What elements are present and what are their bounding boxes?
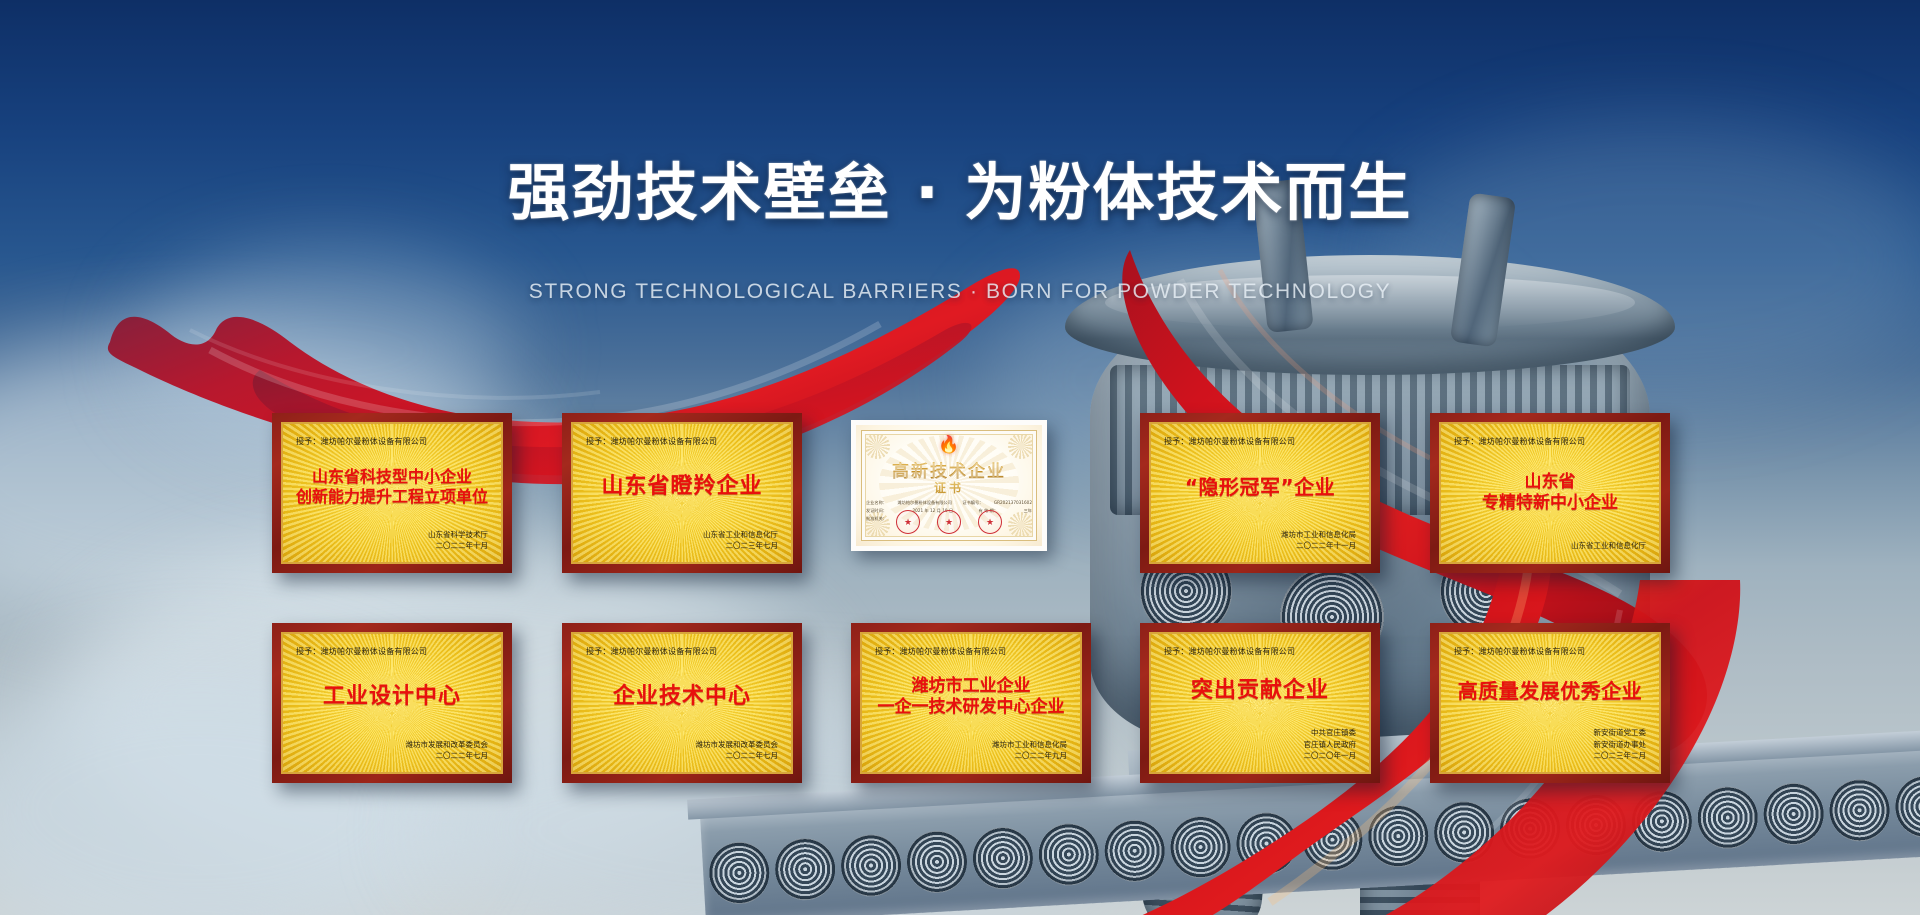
- plaque-date: 二〇二二年七月: [296, 750, 488, 762]
- plaque-date: 二〇二二年九月: [875, 750, 1067, 762]
- plaque-face: 授予：潍坊帕尔曼粉体设备有限公司 企业技术中心 潍坊市发展和改革委员会 二〇二二…: [571, 632, 793, 774]
- plaque-title-line: “隐形冠军”企业: [1185, 476, 1335, 498]
- plaque-title-line: 创新能力提升工程立项单位: [296, 488, 488, 506]
- plaque-issuer: 新安街道党工委: [1454, 727, 1646, 739]
- certificate-face: 🔥 高新技术企业 证书 企业名称： 潍坊帕尔曼粉体设备有限公司 证书编号： GR…: [856, 425, 1042, 546]
- award-plaque[interactable]: 授予：潍坊帕尔曼粉体设备有限公司 工业设计中心 潍坊市发展和改革委员会 二〇二二…: [272, 623, 512, 783]
- plaque-title: 突出贡献企业: [1164, 655, 1356, 727]
- plaque-footer: 潍坊市工业和信息化局 二〇二二年九月: [875, 739, 1067, 762]
- award-plaque[interactable]: 授予：潍坊帕尔曼粉体设备有限公司 “隐形冠军”企业 潍坊市工业和信息化局 二〇二…: [1140, 413, 1380, 573]
- plaque-footer: 山东省工业和信息化厅: [1454, 540, 1646, 552]
- award-plaque[interactable]: 授予：潍坊帕尔曼粉体设备有限公司 突出贡献企业 中共官庄镇委 官庄镇人民政府 二…: [1140, 623, 1380, 783]
- award-plaque[interactable]: 授予：潍坊帕尔曼粉体设备有限公司 高质量发展优秀企业 新安街道党工委 新安街道办…: [1430, 623, 1670, 783]
- award-plaque[interactable]: 授予：潍坊帕尔曼粉体设备有限公司 山东省瞪羚企业 山东省工业和信息化厅 二〇二三…: [562, 413, 802, 573]
- plaque-title-line: 山东省: [1525, 473, 1576, 492]
- plaque-title: 山东省 专精特新中小企业: [1454, 445, 1646, 540]
- certificate-field-label: 企业名称：: [866, 499, 887, 507]
- certificate-field-value: 潍坊帕尔曼粉体设备有限公司: [897, 499, 951, 507]
- plaque-date: 二〇二二年七月: [586, 750, 778, 762]
- plaque-footer: 山东省工业和信息化厅 二〇二三年七月: [586, 529, 778, 552]
- plaque-title: 潍坊市工业企业 一企一技术研发中心企业: [875, 655, 1067, 739]
- red-seal-icon: ★: [937, 510, 961, 534]
- awards-grid: 授予：潍坊帕尔曼粉体设备有限公司 山东省科技型中小企业 创新能力提升工程立项单位…: [0, 0, 1920, 915]
- plaque-issuer: 潍坊市工业和信息化局: [875, 739, 1067, 751]
- plaque-face: 授予：潍坊帕尔曼粉体设备有限公司 高质量发展优秀企业 新安街道党工委 新安街道办…: [1439, 632, 1661, 774]
- award-plaque[interactable]: 授予：潍坊帕尔曼粉体设备有限公司 山东省 专精特新中小企业 山东省工业和信息化厅: [1430, 413, 1670, 573]
- plaque-issuer: 官庄镇人民政府: [1164, 739, 1356, 751]
- award-plaque[interactable]: 授予：潍坊帕尔曼粉体设备有限公司 企业技术中心 潍坊市发展和改革委员会 二〇二二…: [562, 623, 802, 783]
- plaque-face: 授予：潍坊帕尔曼粉体设备有限公司 潍坊市工业企业 一企一技术研发中心企业 潍坊市…: [860, 632, 1082, 774]
- red-seal-icon: ★: [896, 510, 920, 534]
- plaque-face: 授予：潍坊帕尔曼粉体设备有限公司 “隐形冠军”企业 潍坊市工业和信息化局 二〇二…: [1149, 422, 1371, 564]
- plaque-face: 授予：潍坊帕尔曼粉体设备有限公司 工业设计中心 潍坊市发展和改革委员会 二〇二二…: [281, 632, 503, 774]
- plaque-title: 企业技术中心: [586, 655, 778, 739]
- plaque-face: 授予：潍坊帕尔曼粉体设备有限公司 山东省科技型中小企业 创新能力提升工程立项单位…: [281, 422, 503, 564]
- plaque-issuer: 新安街道办事处: [1454, 739, 1646, 751]
- plaque-title: 山东省科技型中小企业 创新能力提升工程立项单位: [296, 445, 488, 529]
- certificate-seals: ★ ★ ★: [856, 510, 1042, 534]
- plaque-title-line: 专精特新中小企业: [1482, 494, 1618, 513]
- certificate-subtitle: 证书: [856, 479, 1042, 496]
- plaque-title: “隐形冠军”企业: [1164, 445, 1356, 529]
- plaque-title: 山东省瞪羚企业: [586, 445, 778, 529]
- plaque-title-line: 一企一技术研发中心企业: [878, 698, 1065, 717]
- award-plaque[interactable]: 授予：潍坊帕尔曼粉体设备有限公司 山东省科技型中小企业 创新能力提升工程立项单位…: [272, 413, 512, 573]
- plaque-footer: 山东省科学技术厅 二〇二二年十月: [296, 529, 488, 552]
- plaque-footer: 潍坊市工业和信息化局 二〇二二年十一月: [1164, 529, 1356, 552]
- plaque-date: 二〇二二年十一月: [1164, 540, 1356, 552]
- plaque-date: 二〇二二年十月: [296, 540, 488, 552]
- plaque-title-line: 突出贡献企业: [1191, 679, 1329, 704]
- plaque-issuer: 中共官庄镇委: [1164, 727, 1356, 739]
- certificate-field-row: 企业名称： 潍坊帕尔曼粉体设备有限公司 证书编号： GR202137031602: [866, 499, 1032, 507]
- plaque-issuer: 潍坊市发展和改革委员会: [586, 739, 778, 751]
- plaque-face: 授予：潍坊帕尔曼粉体设备有限公司 山东省瞪羚企业 山东省工业和信息化厅 二〇二三…: [571, 422, 793, 564]
- certificate-field-label: 证书编号：: [962, 499, 983, 507]
- flame-icon: 🔥: [938, 436, 959, 453]
- red-seal-icon: ★: [978, 510, 1002, 534]
- plaque-footer: 潍坊市发展和改革委员会 二〇二二年七月: [296, 739, 488, 762]
- plaque-title-line: 工业设计中心: [323, 685, 461, 710]
- high-tech-certificate[interactable]: 🔥 高新技术企业 证书 企业名称： 潍坊帕尔曼粉体设备有限公司 证书编号： GR…: [851, 420, 1047, 551]
- plaque-date: 二〇二三年二月: [1454, 750, 1646, 762]
- plaque-title: 高质量发展优秀企业: [1454, 655, 1646, 727]
- plaque-face: 授予：潍坊帕尔曼粉体设备有限公司 山东省 专精特新中小企业 山东省工业和信息化厅: [1439, 422, 1661, 564]
- certificate-field-value: GR202137031602: [994, 499, 1032, 507]
- plaque-title-line: 潍坊市工业企业: [912, 677, 1031, 696]
- award-plaque[interactable]: 授予：潍坊帕尔曼粉体设备有限公司 潍坊市工业企业 一企一技术研发中心企业 潍坊市…: [851, 623, 1091, 783]
- plaque-title-line: 企业技术中心: [613, 685, 751, 710]
- banner-stage: 强劲技术壁垒 · 为粉体技术而生 STRONG TECHNOLOGICAL BA…: [0, 0, 1920, 915]
- plaque-title-line: 山东省瞪羚企业: [601, 475, 762, 500]
- plaque-title-line: 高质量发展优秀企业: [1458, 680, 1643, 702]
- plaque-footer: 新安街道党工委 新安街道办事处 二〇二三年二月: [1454, 727, 1646, 762]
- plaque-issuer: 山东省科学技术厅: [296, 529, 488, 541]
- plaque-face: 授予：潍坊帕尔曼粉体设备有限公司 突出贡献企业 中共官庄镇委 官庄镇人民政府 二…: [1149, 632, 1371, 774]
- plaque-issuer: 山东省工业和信息化厅: [586, 529, 778, 541]
- plaque-date: 二〇二〇年一月: [1164, 750, 1356, 762]
- plaque-footer: 中共官庄镇委 官庄镇人民政府 二〇二〇年一月: [1164, 727, 1356, 762]
- plaque-issuer: 山东省工业和信息化厅: [1454, 540, 1646, 552]
- plaque-title-line: 山东省科技型中小企业: [312, 468, 472, 486]
- plaque-footer: 潍坊市发展和改革委员会 二〇二二年七月: [586, 739, 778, 762]
- plaque-date: 二〇二三年七月: [586, 540, 778, 552]
- plaque-issuer: 潍坊市发展和改革委员会: [296, 739, 488, 751]
- plaque-issuer: 潍坊市工业和信息化局: [1164, 529, 1356, 541]
- plaque-title: 工业设计中心: [296, 655, 488, 739]
